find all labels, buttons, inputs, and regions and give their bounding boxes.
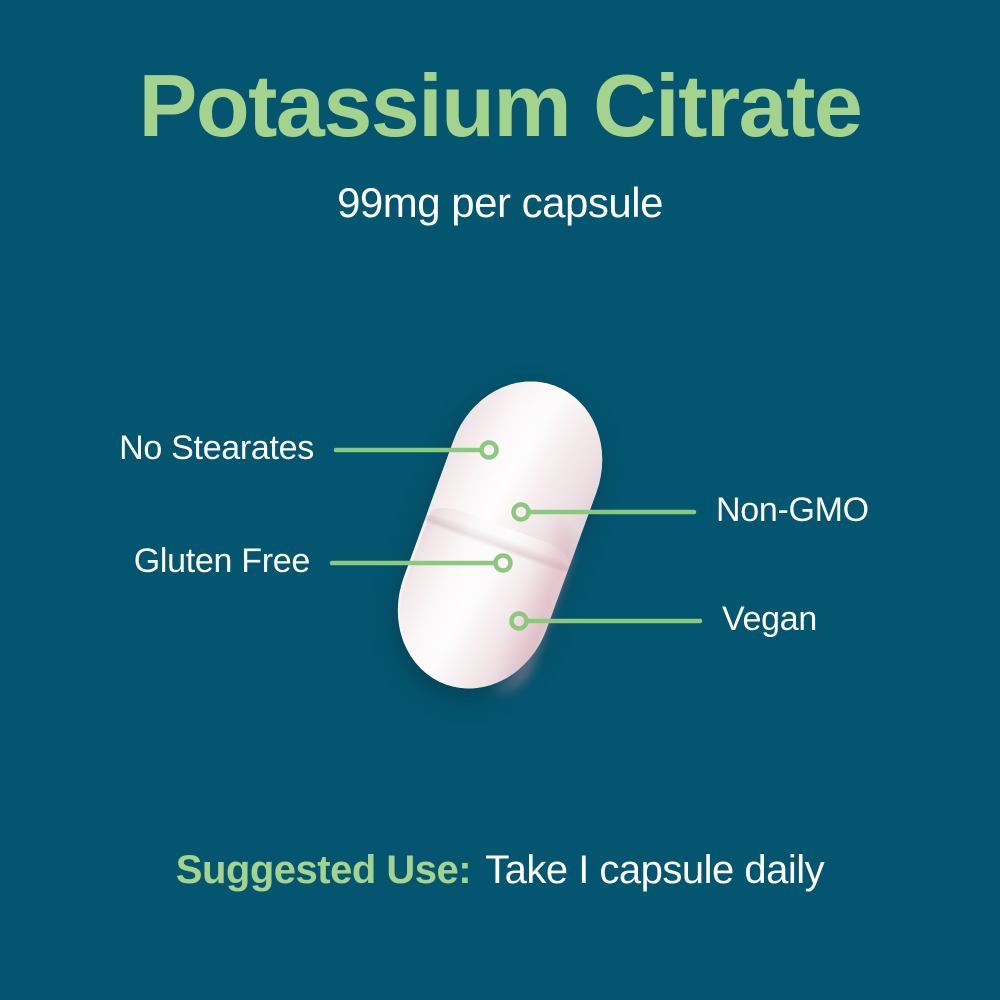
- callout-label-gluten-free: Gluten Free: [134, 544, 310, 578]
- callout-label-vegan: Vegan: [722, 602, 817, 636]
- capsule-icon: [374, 360, 626, 711]
- product-infographic: Potassium Citrate 99mg per capsule No St…: [0, 0, 1000, 1000]
- callout-label-non-gmo: Non-GMO: [716, 493, 869, 527]
- suggested-use-row: Suggested Use:Take I capsule daily: [0, 848, 1000, 893]
- suggested-use-value: Take I capsule daily: [485, 848, 824, 892]
- suggested-use-label: Suggested Use:: [176, 848, 471, 892]
- callout-label-no-stearates: No Stearates: [119, 431, 314, 465]
